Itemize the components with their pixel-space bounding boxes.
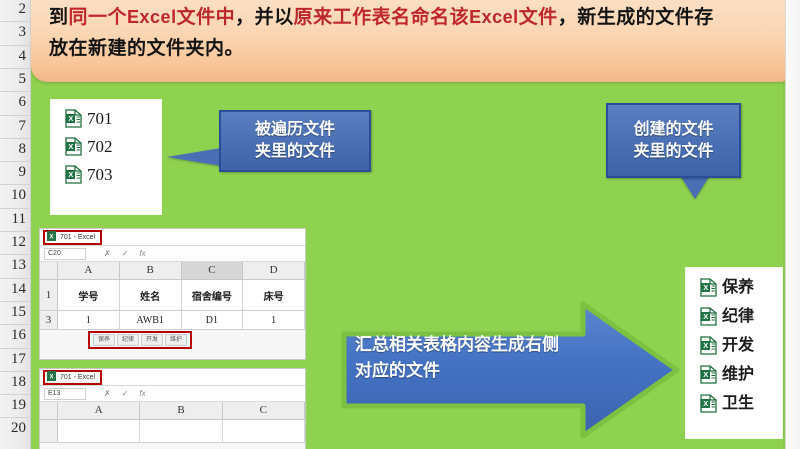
table-cell[interactable] [140, 420, 222, 442]
row-number-gutter: 234567891011121314151617181920 [0, 0, 31, 449]
row-divider [0, 91, 30, 92]
excel-window-title: 701 - Excel [60, 374, 95, 381]
banner-seg-8: ，新生成的文件存 [558, 7, 714, 28]
banner-line-1: 到同一个Excel文件中，并以原来工作表名命名该Excel文件，新生成的文件存 [49, 2, 774, 33]
sheet-tab[interactable]: 开发 [141, 334, 163, 346]
slide-title-banner: 到同一个Excel文件中，并以原来工作表名命名该Excel文件，新生成的文件存 … [31, 0, 786, 82]
excel-file-icon: X [700, 365, 717, 384]
select-all-corner[interactable] [40, 262, 58, 279]
list-item-label: 维护 [722, 367, 754, 383]
row-number[interactable]: 13 [0, 258, 28, 273]
table-cell[interactable]: 宿舍编号 [182, 280, 244, 310]
enter-icon[interactable]: ✓ [122, 249, 129, 258]
table-cell[interactable] [223, 420, 305, 442]
banner-seg-6: Excel [469, 7, 519, 27]
row-divider [0, 394, 30, 395]
row-number[interactable]: 2 [0, 2, 28, 17]
table-cell[interactable]: AWB1 [120, 311, 182, 329]
row-divider [0, 231, 30, 232]
excel-screenshot-top[interactable]: X 701 - Excel C20 ✗ ✓ fx A B C D [39, 228, 306, 360]
column-header-b[interactable]: B [120, 262, 182, 279]
callout-right-line-2: 夹里的文件 [633, 141, 713, 163]
enter-icon[interactable]: ✓ [122, 389, 129, 398]
row-number[interactable]: 15 [0, 305, 28, 320]
vertical-scrollbar[interactable] [785, 0, 800, 449]
excel-screenshot-bottom[interactable]: X 701 - Excel E13 ✗ ✓ fx A B C [39, 368, 306, 449]
row-number[interactable]: 20 [0, 421, 28, 436]
excel-file-icon: X [65, 109, 82, 128]
title-annotation-box: X 701 - Excel [43, 230, 102, 245]
process-arrow-line-1: 汇总相关表格内容生成右侧 [355, 332, 590, 358]
column-header-d[interactable]: D [243, 262, 305, 279]
process-arrow-line-2: 对应的文件 [355, 358, 590, 384]
row-divider [0, 254, 30, 255]
row-number[interactable]: 5 [0, 72, 28, 87]
process-arrow[interactable]: 汇总相关表格内容生成右侧 对应的文件 [341, 300, 681, 440]
svg-text:X: X [703, 370, 708, 379]
list-item[interactable]: X 保养 [700, 278, 782, 297]
row-number[interactable]: 16 [0, 328, 28, 343]
excel-title-bar: X 701 - Excel [40, 229, 305, 246]
row-divider [0, 45, 30, 46]
row-divider [0, 184, 30, 185]
excel-file-icon: X [700, 394, 717, 413]
excel-formula-bar[interactable]: E13 ✗ ✓ fx [40, 386, 305, 402]
row-divider [0, 278, 30, 279]
name-box[interactable]: C20 [44, 248, 86, 260]
banner-seg-4: ，并以 [235, 7, 294, 28]
table-cell[interactable]: 姓名 [120, 280, 182, 310]
row-number[interactable]: 12 [0, 235, 28, 250]
row-number[interactable]: 11 [0, 212, 28, 227]
banner-seg-5: 原来工作表名命名该 [294, 7, 470, 28]
formula-bar-buttons: ✗ ✓ fx [104, 389, 146, 398]
list-item[interactable]: X 卫生 [700, 394, 782, 413]
column-header-b[interactable]: B [140, 402, 222, 419]
created-folder-file-panel: X 保养 X 纪律 X 开发 X 维护 [686, 268, 782, 438]
excel-file-icon: X [65, 165, 82, 184]
list-item-label: 纪律 [722, 309, 754, 325]
list-item[interactable]: X 702 [65, 137, 161, 156]
sheet-tab-annotation-box: 保养 纪律 开发 维护 [88, 331, 192, 349]
table-cell[interactable]: 床号 [243, 280, 305, 310]
cancel-icon[interactable]: ✗ [104, 389, 111, 398]
list-item-label: 保养 [722, 280, 754, 296]
svg-text:X: X [703, 312, 708, 321]
table-cell[interactable] [58, 420, 140, 442]
row-number[interactable]: 7 [0, 119, 28, 134]
excel-formula-bar[interactable]: C20 ✗ ✓ fx [40, 246, 305, 262]
callout-left-line-2: 夹里的文件 [255, 141, 335, 163]
slide-editor-screenshot: 到同一个Excel文件中，并以原来工作表名命名该Excel文件，新生成的文件存 … [0, 0, 800, 449]
column-header-a[interactable]: A [58, 402, 140, 419]
callout-created-files[interactable]: 创建的文件 夹里的文件 [606, 103, 741, 178]
list-item[interactable]: X 纪律 [700, 307, 782, 326]
svg-text:X: X [703, 399, 708, 408]
insert-function-icon[interactable]: fx [139, 389, 145, 398]
excel-app-icon: X [47, 228, 56, 246]
banner-seg-1: 同一个 [69, 7, 128, 28]
list-item[interactable]: X 开发 [700, 336, 782, 355]
callout-right-line-1: 创建的文件 [633, 119, 713, 141]
row-number[interactable]: 19 [0, 398, 28, 413]
row-header[interactable]: 1 [40, 280, 58, 310]
svg-text:X: X [68, 142, 73, 151]
excel-file-icon: X [65, 137, 82, 156]
excel-file-icon: X [700, 307, 717, 326]
title-annotation-box: X 701 - Excel [43, 370, 102, 385]
table-row: 3 1 AWB1 D1 1 [40, 311, 305, 330]
row-number[interactable]: 14 [0, 282, 28, 297]
column-headers: A B C [40, 402, 305, 420]
excel-app-icon: X [47, 368, 56, 386]
list-item-label: 卫生 [722, 396, 754, 412]
row-divider [0, 21, 30, 22]
table-row: 1 学号 姓名 宿舍编号 床号 [40, 280, 305, 311]
excel-window-title: 701 - Excel [60, 234, 95, 241]
row-header[interactable]: 3 [40, 311, 58, 329]
row-number[interactable]: 9 [0, 165, 28, 180]
process-arrow-label: 汇总相关表格内容生成右侧 对应的文件 [355, 332, 590, 384]
svg-text:X: X [703, 283, 708, 292]
svg-text:X: X [49, 375, 53, 381]
callout-left-line-1: 被遍历文件 [255, 119, 335, 141]
table-cell[interactable]: D1 [182, 311, 244, 329]
banner-seg-3: 文件中 [177, 7, 236, 28]
slide-canvas: 到同一个Excel文件中，并以原来工作表名命名该Excel文件，新生成的文件存 … [31, 0, 786, 449]
row-number[interactable]: 8 [0, 142, 28, 157]
row-divider [0, 301, 30, 302]
row-divider [0, 161, 30, 162]
row-divider [0, 115, 30, 116]
row-divider [0, 324, 30, 325]
svg-text:X: X [49, 235, 53, 241]
sheet-tab[interactable]: 保养 [93, 334, 115, 346]
excel-title-bar: X 701 - Excel [40, 369, 305, 386]
banner-line-2: 放在新建的文件夹内。 [49, 33, 774, 64]
list-item-label: 开发 [722, 338, 754, 354]
table-row [40, 420, 305, 443]
table-cell[interactable]: 1 [58, 311, 120, 329]
row-number[interactable]: 18 [0, 375, 28, 390]
list-item[interactable]: X 703 [65, 165, 161, 184]
row-number[interactable]: 6 [0, 95, 28, 110]
banner-seg-7: 文件 [519, 7, 558, 28]
row-number[interactable]: 4 [0, 49, 28, 64]
callout-right-tail [681, 177, 709, 199]
source-folder-file-panel: X 701 X 702 X 703 [51, 100, 161, 214]
table-cell[interactable]: 1 [243, 311, 305, 329]
row-divider [0, 348, 30, 349]
select-all-corner[interactable] [40, 402, 58, 419]
list-item-label: 703 [87, 166, 113, 183]
list-item[interactable]: X 701 [65, 109, 161, 128]
svg-text:X: X [703, 341, 708, 350]
svg-text:X: X [68, 114, 73, 123]
list-item-label: 701 [87, 110, 113, 127]
row-divider [0, 371, 30, 372]
excel-file-icon: X [700, 278, 717, 297]
row-divider [0, 417, 30, 418]
name-box[interactable]: E13 [44, 388, 86, 400]
banner-seg-2: Excel [127, 7, 177, 27]
sheet-tab[interactable]: 维护 [165, 334, 187, 346]
row-divider [0, 208, 30, 209]
row-divider [0, 68, 30, 69]
banner-seg-0: 到 [49, 7, 69, 28]
column-header-a[interactable]: A [58, 262, 120, 279]
sheet-tab[interactable]: 纪律 [117, 334, 139, 346]
callout-source-files[interactable]: 被遍历文件 夹里的文件 [219, 110, 371, 172]
callout-left-tail [167, 148, 221, 166]
cancel-icon[interactable]: ✗ [104, 249, 111, 258]
excel-file-icon: X [700, 336, 717, 355]
svg-text:X: X [68, 170, 73, 179]
row-number[interactable]: 17 [0, 352, 28, 367]
table-cell[interactable]: 学号 [58, 280, 120, 310]
sheet-tab-bar: 保养 纪律 开发 维护 [40, 332, 305, 347]
list-item[interactable]: X 维护 [700, 365, 782, 384]
row-divider [0, 138, 30, 139]
list-item-label: 702 [87, 138, 113, 155]
column-header-c[interactable]: C [223, 402, 305, 419]
formula-bar-buttons: ✗ ✓ fx [104, 249, 146, 258]
column-header-c[interactable]: C [182, 262, 244, 279]
row-header[interactable] [40, 420, 58, 442]
column-headers: A B C D [40, 262, 305, 280]
row-number[interactable]: 3 [0, 25, 28, 40]
insert-function-icon[interactable]: fx [139, 249, 145, 258]
row-number[interactable]: 10 [0, 188, 28, 203]
